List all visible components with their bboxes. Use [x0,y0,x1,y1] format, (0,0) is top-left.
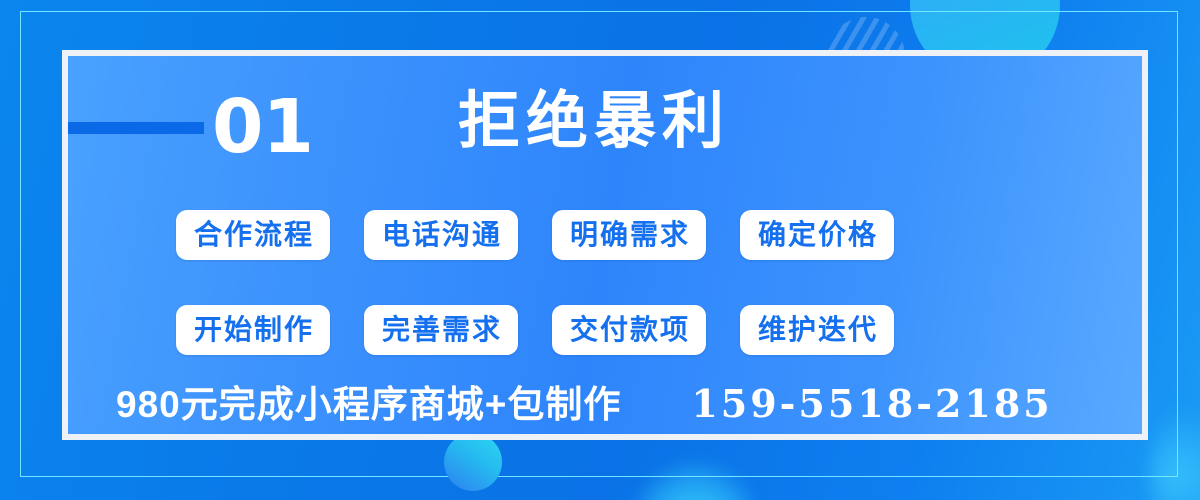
cyan-glow-right-icon [1150,400,1200,500]
step-number: 01 [212,90,313,164]
process-chip[interactable]: 明确需求 [552,210,706,260]
contact-phone-number[interactable]: 159-5518-2185 [691,381,1052,426]
process-chip[interactable]: 维护迭代 [740,305,894,355]
process-chip[interactable]: 开始制作 [176,305,330,355]
process-chip[interactable]: 确定价格 [740,210,894,260]
process-chip[interactable]: 交付款项 [552,305,706,355]
white-border-frame: 01 拒绝暴利 合作流程 电话沟通 明确需求 确定价格 开始制作 完善需求 交付… [62,50,1148,440]
process-chip[interactable]: 完善需求 [364,305,518,355]
process-chip-row-1: 合作流程 电话沟通 明确需求 确定价格 [176,210,1076,260]
footer-row: 980元完成小程序商城+包制作 159-5518-2185 [116,374,1116,428]
cyan-glow-bottom-icon [630,455,760,500]
panel-header: 01 拒绝暴利 [68,98,1142,174]
gradient-circle-bottom-icon [444,433,502,491]
promo-banner: 01 拒绝暴利 合作流程 电话沟通 明确需求 确定价格 开始制作 完善需求 交付… [0,0,1200,500]
process-chip[interactable]: 合作流程 [176,210,330,260]
process-chip-row-2: 开始制作 完善需求 交付款项 维护迭代 [176,305,1076,355]
page-title: 拒绝暴利 [458,91,730,153]
process-chip[interactable]: 电话沟通 [364,210,518,260]
content-panel: 01 拒绝暴利 合作流程 电话沟通 明确需求 确定价格 开始制作 完善需求 交付… [68,56,1142,434]
price-tagline: 980元完成小程序商城+包制作 [116,374,621,428]
rule-bar-decoration [68,122,204,134]
